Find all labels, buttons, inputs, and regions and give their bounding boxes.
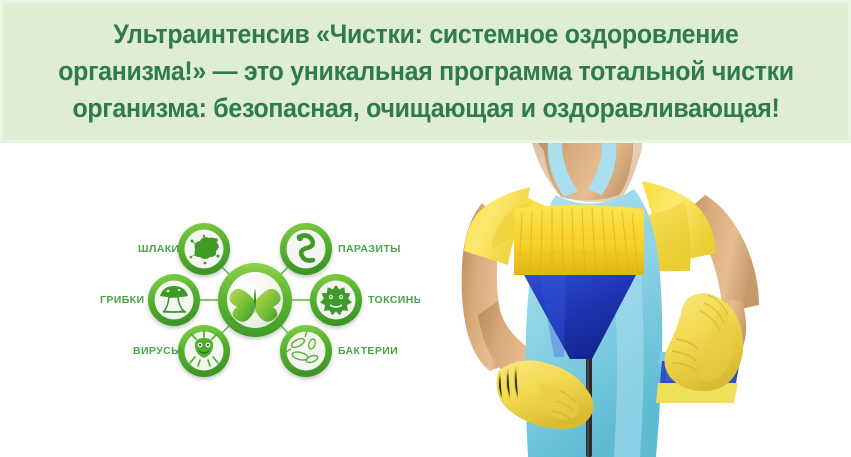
woman-with-broom-photo (420, 143, 851, 457)
promo-banner: Ультраинтенсив «Чистки: системное оздоро… (0, 0, 851, 143)
banner-line-1: Ультраинтенсив «Чистки: системное оздоро… (50, 16, 802, 53)
diagram-label-gribki: ГРИБКИ (100, 294, 144, 306)
cleansing-targets-diagram: ШЛАКИ ПАРАЗИТЫ ГРИБКИ ТОКСИНЫ ВИРУСЫ БАК… (100, 205, 410, 395)
diagram-label-parazity: ПАРАЗИТЫ (338, 243, 401, 255)
broom-bristles (514, 205, 644, 275)
diagram-node-gribki (148, 274, 200, 326)
diagram-label-bakterii: БАКТЕРИИ (338, 345, 398, 357)
diagram-label-virusy: ВИРУСЫ (133, 345, 182, 357)
diagram-label-shlaki: ШЛАКИ (138, 243, 179, 255)
banner-line-2: организма!» — это уникальная программа т… (50, 53, 802, 90)
banner-headline: Ультраинтенсив «Чистки: системное оздоро… (50, 16, 802, 127)
diagram-graphic (100, 205, 410, 395)
banner-line-3: организма: безопасная, очищающая и оздор… (50, 90, 802, 127)
diagram-label-toksiny: ТОКСИНЫ (368, 294, 424, 306)
woman-photo-graphic (420, 143, 851, 457)
